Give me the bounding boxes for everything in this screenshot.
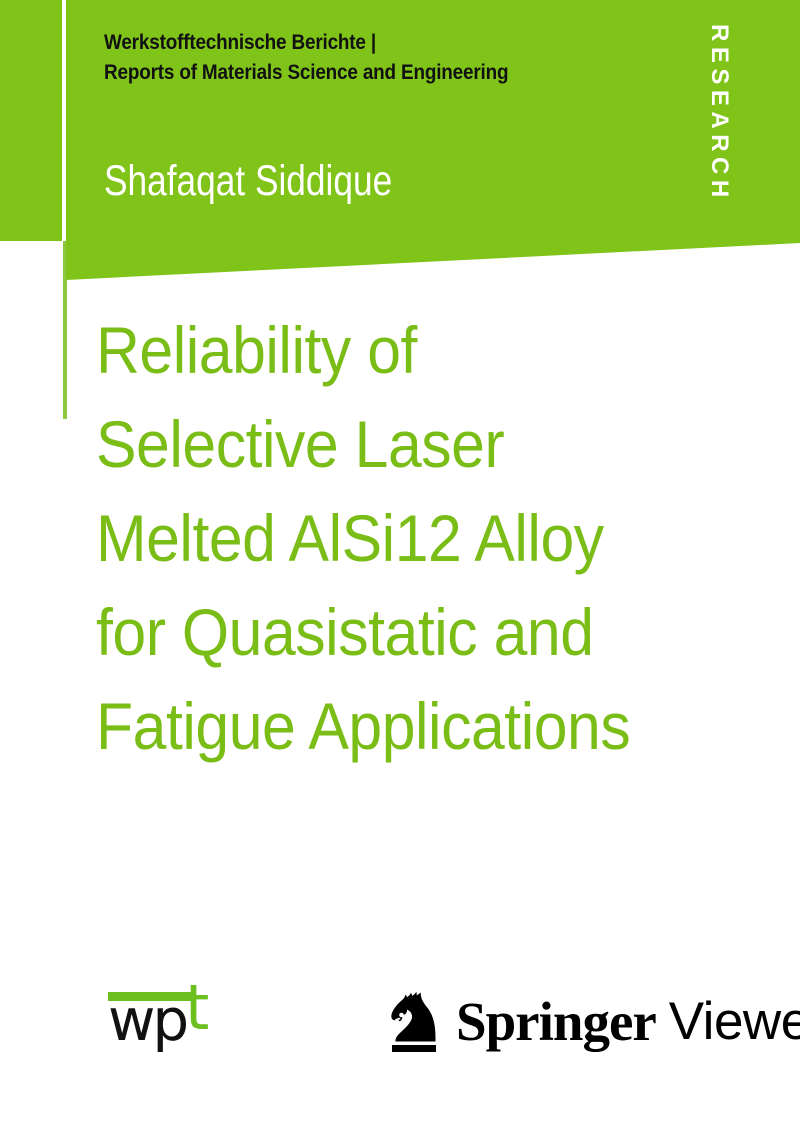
title-line-3: Melted AlSi12 Alloy <box>96 491 703 585</box>
research-flag: RESEARCH <box>703 24 743 224</box>
book-cover: Werkstofftechnische Berichte | Reports o… <box>0 0 800 1135</box>
title-line-1: Reliability of <box>96 303 703 397</box>
series-title-line-1: Werkstofftechnische Berichte | <box>104 27 562 57</box>
title-line-5: Fatigue Applications <box>96 679 703 773</box>
series-title: Werkstofftechnische Berichte | Reports o… <box>104 27 562 87</box>
page-title: Reliability of Selective Laser Melted Al… <box>96 303 703 773</box>
logo-row: wp t Springer Vieweg <box>0 975 800 1085</box>
research-flag-label: RESEARCH <box>705 24 733 203</box>
springer-wordmark: Springer <box>456 993 656 1051</box>
wpt-logo-accent-letter: t <box>185 977 209 1039</box>
wpt-logo: wp t <box>108 975 218 1060</box>
vieweg-wordmark: Vieweg <box>669 993 800 1051</box>
series-title-line-2: Reports of Materials Science and Enginee… <box>104 57 562 87</box>
wpt-logo-letters: wp <box>108 991 186 1049</box>
springer-knight-icon <box>386 989 446 1055</box>
title-line-4: for Quasistatic and <box>96 585 703 679</box>
left-accent-block <box>0 0 62 241</box>
springer-vieweg-logo: Springer Vieweg <box>386 983 800 1061</box>
title-line-2: Selective Laser <box>96 397 703 491</box>
author-name: Shafaqat Siddique <box>104 156 392 206</box>
